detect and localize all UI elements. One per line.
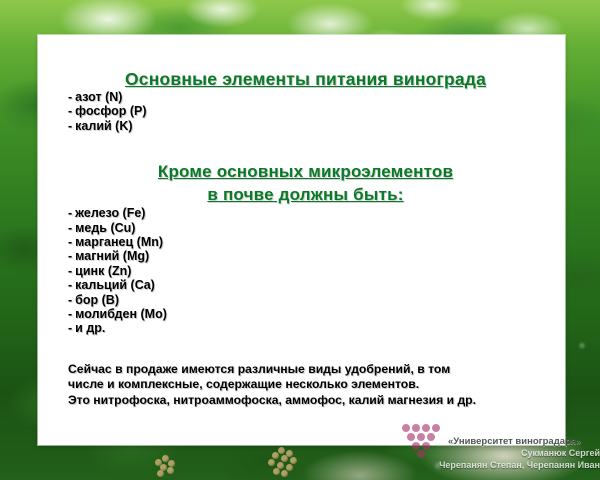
section-heading-line-1: Кроме основных микроэлементов <box>68 161 543 183</box>
bullet-dash: - <box>68 119 72 133</box>
note-line: числе и комплексные, содержащие нескольк… <box>68 377 543 393</box>
list-item-label: молибден (Mo) <box>75 307 167 321</box>
list-item-label: магний (Mg) <box>75 249 149 263</box>
bullet-dash: - <box>68 90 72 104</box>
list-item: -бор (B) <box>68 293 543 307</box>
bullet-dash: - <box>68 307 72 321</box>
list-item-label: кальций (Ca) <box>75 278 155 292</box>
list-item-label: азот (N) <box>75 90 122 104</box>
section-heading-line-2: в почве должны быть: <box>68 184 543 206</box>
bullet-dash: - <box>68 206 72 220</box>
micro-heading-group: Кроме основных микроэлементов в почве до… <box>68 161 543 206</box>
list-item: -цинк (Zn) <box>68 264 543 278</box>
content-card: Основные элементы питания винограда -азо… <box>38 35 565 445</box>
main-nutrient-list: -азот (N) -фосфор (P) -калий (K) <box>68 90 543 133</box>
list-item: -марганец (Mn) <box>68 235 543 249</box>
micro-nutrient-list: -железо (Fe) -медь (Cu) -марганец (Mn) -… <box>68 206 543 336</box>
list-item: -кальций (Ca) <box>68 278 543 292</box>
list-item: -фосфор (P) <box>68 104 543 118</box>
note-line: Сейчас в продаже имеются различные виды … <box>68 362 543 378</box>
slide-root: Основные элементы питания винограда -азо… <box>0 0 600 480</box>
list-item-label: бор (B) <box>75 293 119 307</box>
list-item: -магний (Mg) <box>68 249 543 263</box>
bullet-dash: - <box>68 221 72 235</box>
note-line: Это нитрофоска, нитроаммофоска, аммофос,… <box>68 393 543 409</box>
list-item: -молибден (Mo) <box>68 307 543 321</box>
bullet-dash: - <box>68 293 72 307</box>
list-item-label: марганец (Mn) <box>75 235 163 249</box>
list-item: -и др. <box>68 321 543 335</box>
list-item-label: цинк (Zn) <box>75 264 131 278</box>
list-item: -азот (N) <box>68 90 543 104</box>
bullet-dash: - <box>68 264 72 278</box>
content-card-inner: Основные элементы питания винограда -азо… <box>38 35 565 445</box>
list-item: -железо (Fe) <box>68 206 543 220</box>
list-item: -калий (K) <box>68 119 543 133</box>
bullet-dash: - <box>68 104 72 118</box>
list-item-label: медь (Cu) <box>75 221 135 235</box>
closing-note: Сейчас в продаже имеются различные виды … <box>68 362 543 409</box>
list-item-label: калий (K) <box>75 119 132 133</box>
bullet-dash: - <box>68 235 72 249</box>
list-item: -медь (Cu) <box>68 221 543 235</box>
bullet-dash: - <box>68 278 72 292</box>
list-item-label: и др. <box>75 321 105 335</box>
page-title: Основные элементы питания винограда <box>68 69 543 90</box>
list-item-label: железо (Fe) <box>75 206 145 220</box>
list-item-label: фосфор (P) <box>75 104 146 118</box>
bullet-dash: - <box>68 249 72 263</box>
bullet-dash: - <box>68 321 72 335</box>
